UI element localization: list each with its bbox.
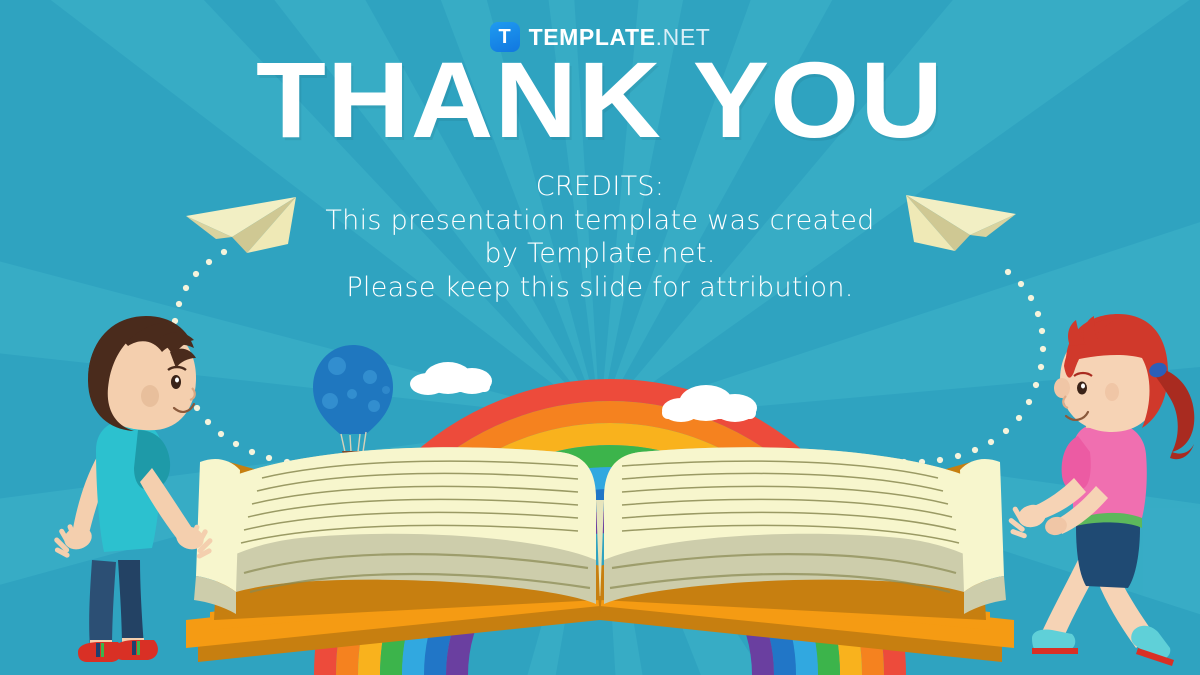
thank-you-slide: T TEMPLATE.NET THANK YOU CREDITS: This p… xyxy=(0,0,1200,675)
credits-line-4: Please keep this slide for attribution. xyxy=(0,271,1200,305)
page-title: THANK YOU xyxy=(0,46,1200,154)
credits-label: CREDITS: xyxy=(0,170,1200,204)
girl-character xyxy=(1008,314,1195,666)
credits-line-3: by Template.net. xyxy=(0,237,1200,271)
credits-line-2: This presentation template was created xyxy=(0,204,1200,238)
boy-character xyxy=(53,316,213,662)
credits-block: CREDITS: This presentation template was … xyxy=(0,170,1200,304)
